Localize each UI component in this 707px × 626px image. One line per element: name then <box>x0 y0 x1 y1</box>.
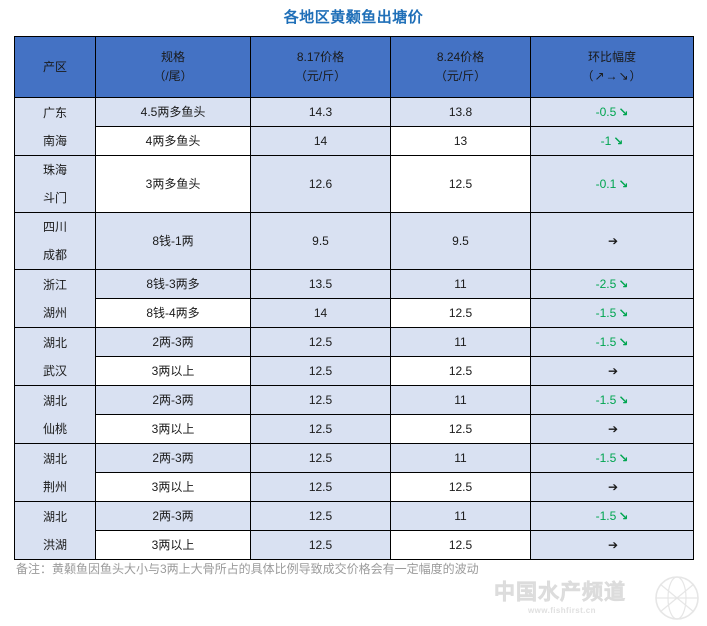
price-0817-cell: 14.3 <box>251 98 391 127</box>
trend-down-icon: ↘ <box>618 335 628 349</box>
price-0817-cell: 12.5 <box>251 502 391 531</box>
column-header-spec: 规格 （/尾） <box>96 37 251 98</box>
spec-cell: 3两多鱼头 <box>96 156 251 213</box>
change-value: -2.5 <box>596 277 617 291</box>
change-cell: -0.5↘ <box>531 98 694 127</box>
table-row: 8钱-4两多1412.5-1.5↘ <box>15 299 694 328</box>
price-0824-cell: 11 <box>391 444 531 473</box>
region-name-line2: 荆州 <box>15 473 95 501</box>
column-header-change: 环比幅度 （↗→↘） <box>531 37 694 98</box>
change-cell: ➔ <box>531 357 694 386</box>
region-name-line2: 仙桃 <box>15 415 95 443</box>
region-name-line2: 武汉 <box>15 357 95 385</box>
region-name-line1: 湖北 <box>15 387 95 415</box>
column-header-price-0817-line1: 8.17价格 <box>251 48 390 67</box>
region-name-line2: 南海 <box>15 127 95 155</box>
change-cell: ➔ <box>531 213 694 270</box>
table-body: 广东南海4.5两多鱼头14.313.8-0.5↘4两多鱼头1413-1↘珠海斗门… <box>15 98 694 560</box>
price-0817-cell: 12.5 <box>251 444 391 473</box>
region-name-line1: 广东 <box>15 99 95 127</box>
region-name-line1: 湖北 <box>15 503 95 531</box>
region-name-line1: 湖北 <box>15 445 95 473</box>
region-name-line2: 成都 <box>15 241 95 269</box>
price-0824-cell: 11 <box>391 328 531 357</box>
change-cell: -1.5↘ <box>531 328 694 357</box>
table-row: 3两以上12.512.5➔ <box>15 357 694 386</box>
spec-cell: 3两以上 <box>96 473 251 502</box>
region-cell: 湖北荆州 <box>15 444 96 502</box>
price-0817-cell: 12.5 <box>251 473 391 502</box>
change-cell: -0.1↘ <box>531 156 694 213</box>
change-value: -1.5 <box>596 451 617 465</box>
table-row: 湖北武汉2两-3两12.511-1.5↘ <box>15 328 694 357</box>
region-name-line1: 四川 <box>15 213 95 241</box>
price-0824-cell: 12.5 <box>391 357 531 386</box>
table-row: 3两以上12.512.5➔ <box>15 473 694 502</box>
spec-cell: 4.5两多鱼头 <box>96 98 251 127</box>
change-value: -1.5 <box>596 509 617 523</box>
price-0824-cell: 12.5 <box>391 156 531 213</box>
region-cell: 广东南海 <box>15 98 96 156</box>
price-0817-cell: 12.6 <box>251 156 391 213</box>
table-row: 3两以上12.512.5➔ <box>15 415 694 444</box>
region-cell: 湖北武汉 <box>15 328 96 386</box>
price-0824-cell: 13 <box>391 127 531 156</box>
region-cell: 湖北洪湖 <box>15 502 96 560</box>
trend-down-icon: ↘ <box>618 509 628 523</box>
price-0817-cell: 12.5 <box>251 386 391 415</box>
price-0817-cell: 14 <box>251 299 391 328</box>
change-value: -1.5 <box>596 306 617 320</box>
spec-cell: 3两以上 <box>96 357 251 386</box>
column-header-price-0824: 8.24价格 （元/斤） <box>391 37 531 98</box>
trend-down-icon: ↘ <box>618 177 628 191</box>
price-0824-cell: 9.5 <box>391 213 531 270</box>
price-0824-cell: 12.5 <box>391 473 531 502</box>
price-0817-cell: 12.5 <box>251 531 391 560</box>
trend-down-icon: ↘ <box>618 306 628 320</box>
region-cell: 浙江湖州 <box>15 270 96 328</box>
price-0824-cell: 11 <box>391 386 531 415</box>
watermark-text: 中国水产频道 <box>494 581 626 605</box>
table-row: 4两多鱼头1413-1↘ <box>15 127 694 156</box>
region-name-line2: 湖州 <box>15 299 95 327</box>
change-cell: -1.5↘ <box>531 502 694 531</box>
spec-cell: 2两-3两 <box>96 386 251 415</box>
region-cell: 珠海斗门 <box>15 156 96 213</box>
price-table: 产区 规格 （/尾） 8.17价格 （元/斤） 8.24价格 （元/斤） 环比幅… <box>14 36 694 560</box>
region-name-line1: 珠海 <box>15 156 95 184</box>
table-row: 湖北洪湖2两-3两12.511-1.5↘ <box>15 502 694 531</box>
table-header-row: 产区 规格 （/尾） 8.17价格 （元/斤） 8.24价格 （元/斤） 环比幅… <box>15 37 694 98</box>
change-cell: -1.5↘ <box>531 444 694 473</box>
spec-cell: 8钱-1两 <box>96 213 251 270</box>
watermark-url: www.fishfirst.cn <box>528 606 596 615</box>
table-row: 浙江湖州8钱-3两多13.511-2.5↘ <box>15 270 694 299</box>
change-value: -0.1 <box>596 177 617 191</box>
table-row: 湖北荆州2两-3两12.511-1.5↘ <box>15 444 694 473</box>
spec-cell: 2两-3两 <box>96 328 251 357</box>
price-0824-cell: 11 <box>391 270 531 299</box>
footnote: 备注：黄颡鱼因鱼头大小与3两上大骨所占的具体比例导致成交价格会有一定幅度的波动 <box>16 560 479 578</box>
table-row: 广东南海4.5两多鱼头14.313.8-0.5↘ <box>15 98 694 127</box>
change-cell: -1↘ <box>531 127 694 156</box>
price-0824-cell: 11 <box>391 502 531 531</box>
column-header-region-line1: 产区 <box>15 58 95 77</box>
change-cell: ➔ <box>531 415 694 444</box>
trend-down-icon: ↘ <box>618 105 628 119</box>
column-header-price-0824-line1: 8.24价格 <box>391 48 530 67</box>
trend-down-icon: ↘ <box>618 277 628 291</box>
spec-cell: 8钱-4两多 <box>96 299 251 328</box>
price-0824-cell: 12.5 <box>391 531 531 560</box>
change-value: -1 <box>601 134 612 148</box>
column-header-price-0824-line2: （元/斤） <box>391 67 530 86</box>
column-header-region: 产区 <box>15 37 96 98</box>
region-cell: 湖北仙桃 <box>15 386 96 444</box>
page-title: 各地区黄颡鱼出塘价 <box>0 8 707 28</box>
price-0817-cell: 14 <box>251 127 391 156</box>
spec-cell: 2两-3两 <box>96 502 251 531</box>
column-header-change-line1: 环比幅度 <box>531 48 693 67</box>
table-row: 3两以上12.512.5➔ <box>15 531 694 560</box>
region-cell: 四川成都 <box>15 213 96 270</box>
column-header-price-0817: 8.17价格 （元/斤） <box>251 37 391 98</box>
spec-cell: 2两-3两 <box>96 444 251 473</box>
spec-cell: 3两以上 <box>96 531 251 560</box>
price-0817-cell: 9.5 <box>251 213 391 270</box>
trend-legend-icon: （↗→↘） <box>531 67 693 86</box>
price-0824-cell: 12.5 <box>391 299 531 328</box>
price-0824-cell: 13.8 <box>391 98 531 127</box>
change-value: -0.5 <box>596 105 617 119</box>
column-header-spec-line2: （/尾） <box>96 67 250 86</box>
spec-cell: 4两多鱼头 <box>96 127 251 156</box>
price-0817-cell: 12.5 <box>251 415 391 444</box>
region-name-line2: 斗门 <box>15 184 95 212</box>
trend-flat-icon: ➔ <box>608 538 618 552</box>
spec-cell: 8钱-3两多 <box>96 270 251 299</box>
price-0817-cell: 12.5 <box>251 328 391 357</box>
table-row: 四川成都8钱-1两9.59.5➔ <box>15 213 694 270</box>
trend-flat-icon: ➔ <box>608 234 618 248</box>
table-header: 产区 规格 （/尾） 8.17价格 （元/斤） 8.24价格 （元/斤） 环比幅… <box>15 37 694 98</box>
globe-icon <box>654 575 700 621</box>
region-name-line1: 浙江 <box>15 271 95 299</box>
change-cell: -1.5↘ <box>531 386 694 415</box>
change-cell: -1.5↘ <box>531 299 694 328</box>
spec-cell: 3两以上 <box>96 415 251 444</box>
trend-flat-icon: ➔ <box>608 364 618 378</box>
watermark: 中国水产频道 www.fishfirst.cn <box>490 575 700 623</box>
change-cell: -2.5↘ <box>531 270 694 299</box>
price-0817-cell: 13.5 <box>251 270 391 299</box>
region-name-line2: 洪湖 <box>15 531 95 559</box>
price-0817-cell: 12.5 <box>251 357 391 386</box>
region-name-line1: 湖北 <box>15 329 95 357</box>
column-header-price-0817-line2: （元/斤） <box>251 67 390 86</box>
price-table-container: 产区 规格 （/尾） 8.17价格 （元/斤） 8.24价格 （元/斤） 环比幅… <box>14 36 693 560</box>
trend-flat-icon: ➔ <box>608 422 618 436</box>
change-cell: ➔ <box>531 531 694 560</box>
column-header-spec-line1: 规格 <box>96 48 250 67</box>
change-cell: ➔ <box>531 473 694 502</box>
change-value: -1.5 <box>596 335 617 349</box>
table-row: 珠海斗门3两多鱼头12.612.5-0.1↘ <box>15 156 694 213</box>
price-0824-cell: 12.5 <box>391 415 531 444</box>
table-row: 湖北仙桃2两-3两12.511-1.5↘ <box>15 386 694 415</box>
change-value: -1.5 <box>596 393 617 407</box>
trend-down-icon: ↘ <box>618 451 628 465</box>
trend-down-icon: ↘ <box>613 134 623 148</box>
trend-flat-icon: ➔ <box>608 480 618 494</box>
trend-down-icon: ↘ <box>618 393 628 407</box>
